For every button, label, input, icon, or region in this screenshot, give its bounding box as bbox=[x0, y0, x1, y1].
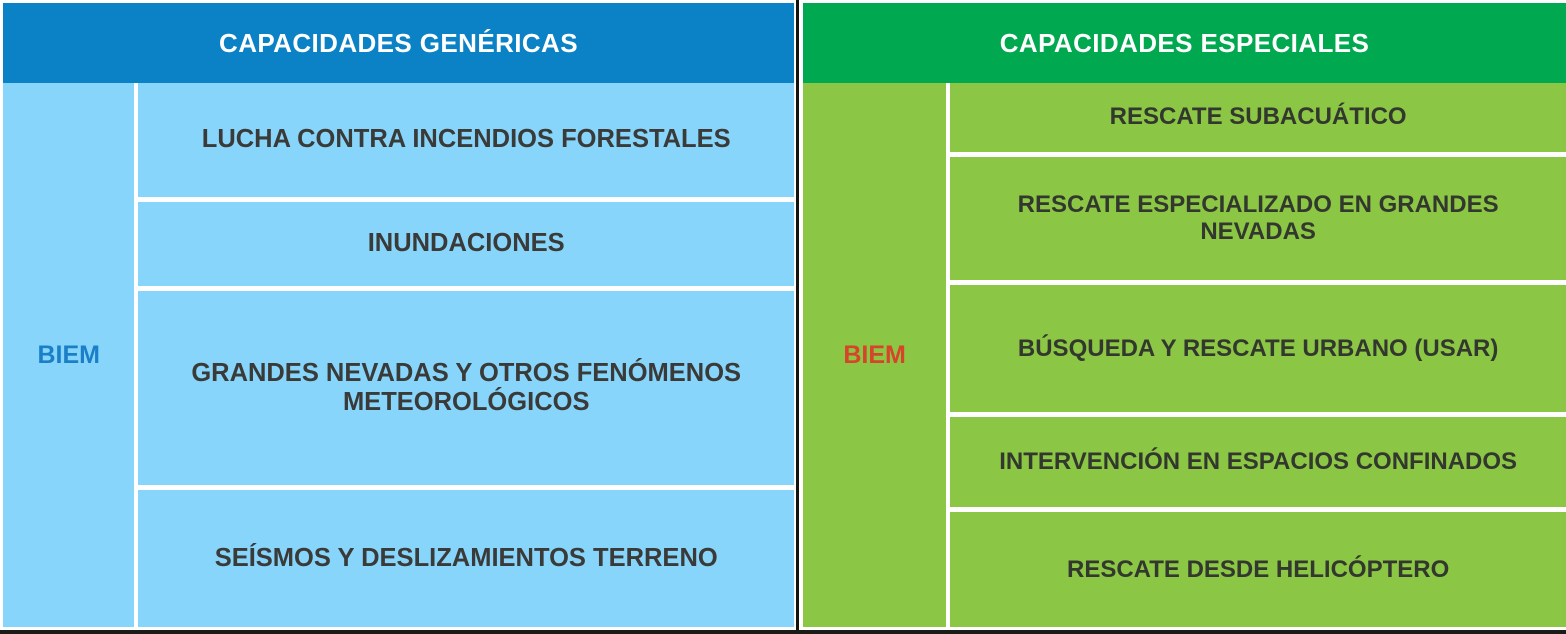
table-row: INUNDACIONES bbox=[138, 197, 794, 287]
capacidades-especiales-body: BIEM RESCATE SUBACUÁTICO RESCATE ESPECIA… bbox=[800, 83, 1566, 630]
capacidades-especiales-header: CAPACIDADES ESPECIALES bbox=[800, 0, 1566, 83]
table-row: RESCATE SUBACUÁTICO bbox=[950, 83, 1566, 152]
capacidades-comparison-figure: CAPACIDADES GENÉRICAS BIEM LUCHA CONTRA … bbox=[0, 0, 1566, 634]
capacidades-genericas-body: BIEM LUCHA CONTRA INCENDIOS FORESTALES I… bbox=[0, 83, 797, 630]
table-row: BÚSQUEDA Y RESCATE URBANO (USAR) bbox=[950, 280, 1566, 412]
table-row: RESCATE ESPECIALIZADO EN GRANDES NEVADAS bbox=[950, 152, 1566, 281]
table-row: GRANDES NEVADAS Y OTROS FENÓMENOS METEOR… bbox=[138, 286, 794, 484]
table-separator-rule bbox=[796, 0, 799, 630]
capacidades-genericas-rows: LUCHA CONTRA INCENDIOS FORESTALES INUNDA… bbox=[134, 83, 794, 630]
capacidades-genericas-table: CAPACIDADES GENÉRICAS BIEM LUCHA CONTRA … bbox=[0, 0, 797, 630]
bottom-edge-strip bbox=[0, 630, 1566, 634]
table-row: RESCATE DESDE HELICÓPTERO bbox=[950, 507, 1566, 627]
capacidades-genericas-header: CAPACIDADES GENÉRICAS bbox=[0, 0, 797, 83]
capacidades-genericas-unit-label: BIEM bbox=[0, 83, 134, 630]
capacidades-especiales-rows: RESCATE SUBACUÁTICO RESCATE ESPECIALIZAD… bbox=[946, 83, 1566, 630]
table-row: LUCHA CONTRA INCENDIOS FORESTALES bbox=[138, 83, 794, 197]
table-row: INTERVENCIÓN EN ESPACIOS CONFINADOS bbox=[950, 412, 1566, 508]
capacidades-especiales-table: CAPACIDADES ESPECIALES BIEM RESCATE SUBA… bbox=[800, 0, 1566, 630]
capacidades-especiales-unit-label: BIEM bbox=[800, 83, 946, 630]
table-row: SEÍSMOS Y DESLIZAMIENTOS TERRENO bbox=[138, 485, 794, 627]
